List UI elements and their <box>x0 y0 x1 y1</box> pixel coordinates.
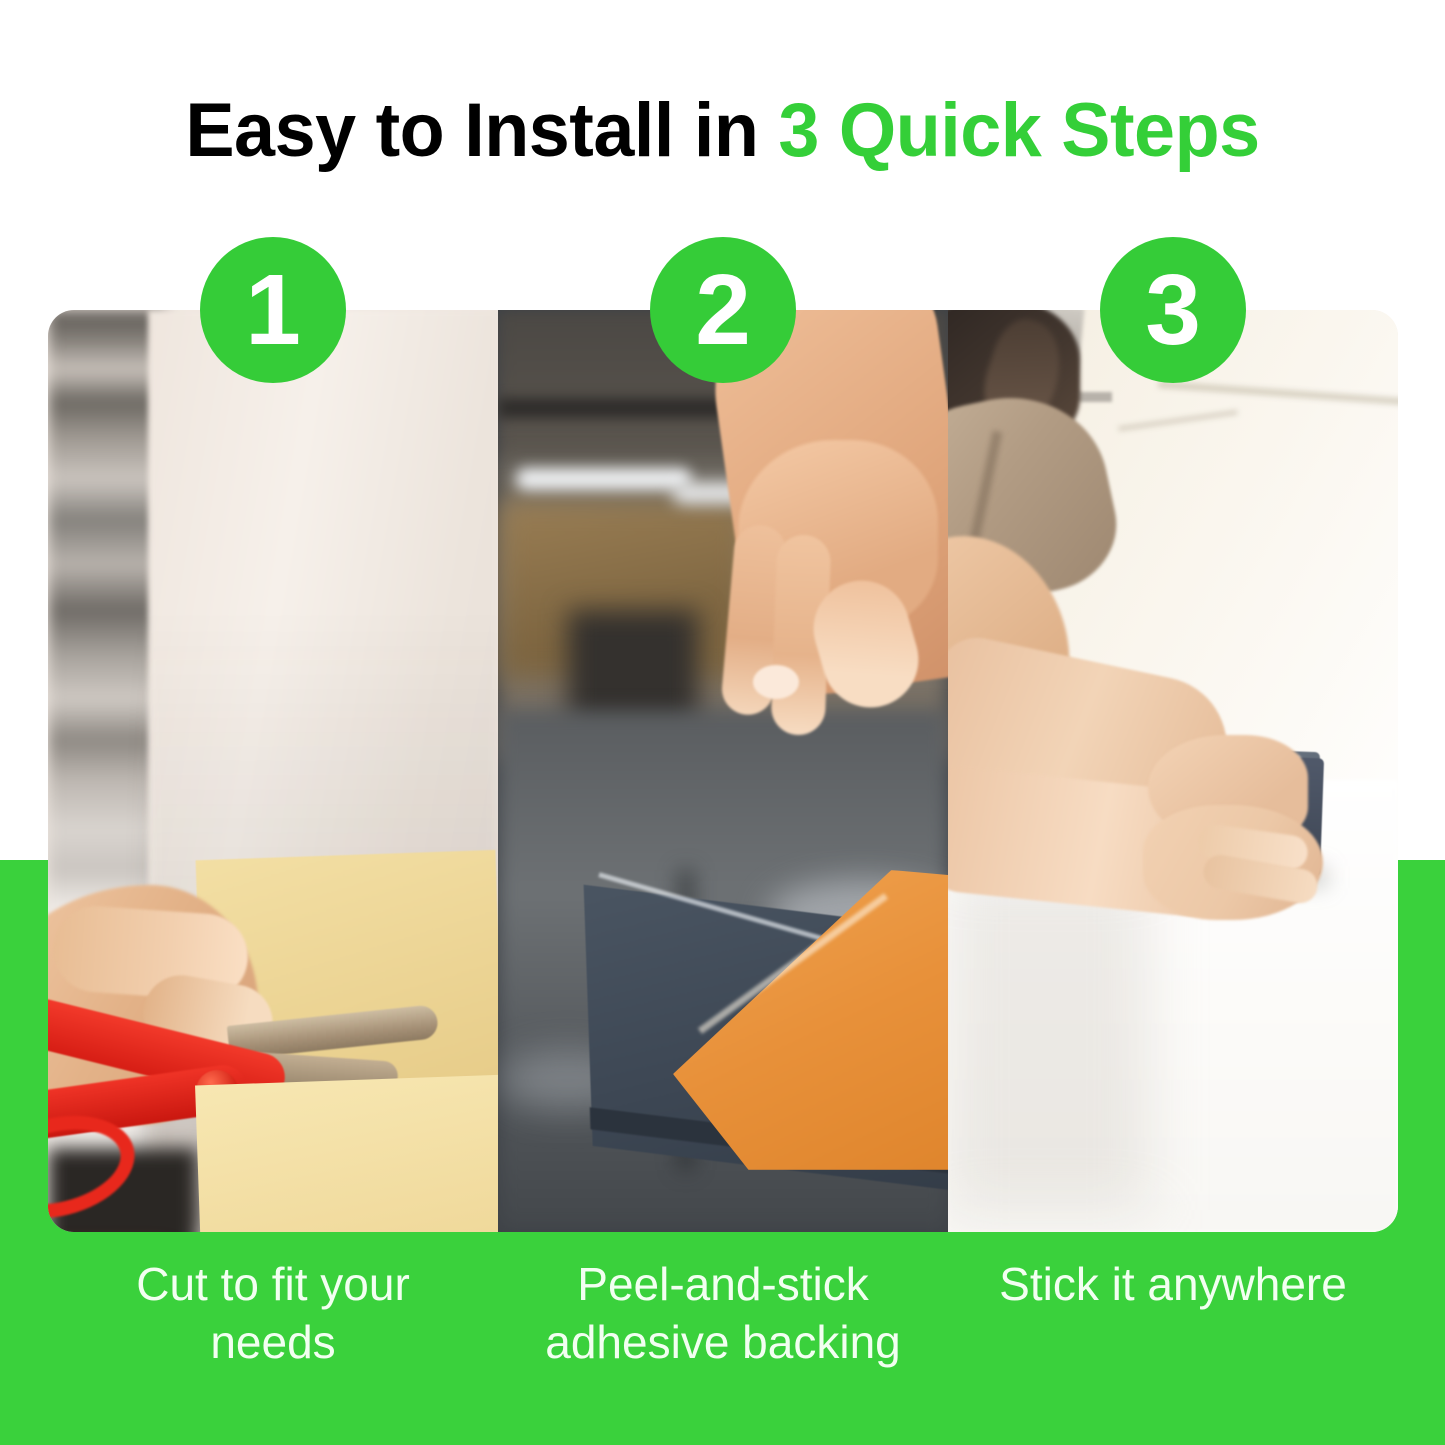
steps-photo-strip <box>48 310 1398 1232</box>
ceiling-light-1 <box>516 468 691 490</box>
step-caption-2: Peel-and-stick adhesive backing <box>498 1255 948 1371</box>
step-caption-1: Cut to fit your needs <box>48 1255 498 1371</box>
fingernail <box>753 665 799 699</box>
foam-sheet-lower <box>195 1075 498 1232</box>
step-1-photo <box>48 310 498 1232</box>
step-badge-1: 1 <box>200 237 346 383</box>
soft-shadow <box>948 870 1148 1210</box>
step-badge-3: 3 <box>1100 237 1246 383</box>
page-title: Easy to Install in 3 Quick Steps <box>22 86 1424 176</box>
step-caption-3: Stick it anywhere <box>948 1255 1398 1371</box>
page-title-dark: Easy to Install in <box>185 88 778 173</box>
step-captions: Cut to fit your needs Peel-and-stick adh… <box>48 1255 1398 1371</box>
step-badge-2: 2 <box>650 237 796 383</box>
step-3-photo <box>948 310 1398 1232</box>
step-2-photo <box>498 310 948 1232</box>
page-title-accent: 3 Quick Steps <box>778 88 1259 173</box>
